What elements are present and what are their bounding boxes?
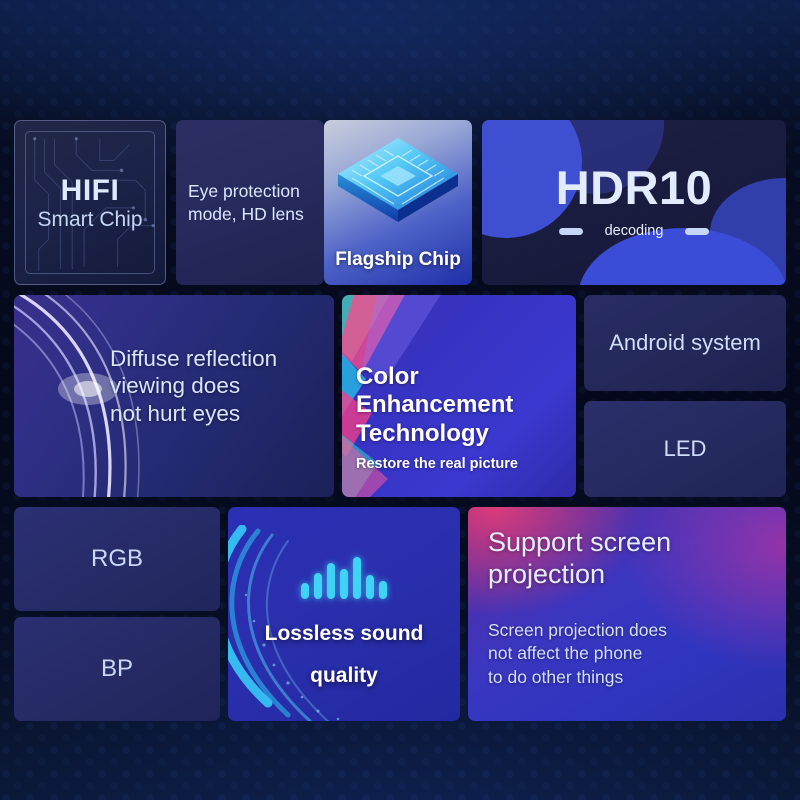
rgb-label: RGB — [91, 545, 143, 573]
hifi-title: HIFI — [37, 174, 142, 208]
projection-body-line3: to do other things — [488, 666, 776, 689]
hifi-subtitle: Smart Chip — [37, 208, 142, 232]
panel-rgb[interactable]: RGB — [14, 507, 220, 611]
panel-screen-projection[interactable]: Support screen projection Screen project… — [468, 507, 786, 721]
panel-hifi-smart-chip[interactable]: HIFI Smart Chip — [14, 120, 166, 285]
diffuse-line2: viewing does — [110, 372, 326, 399]
panel-eye-protection[interactable]: Eye protection mode, HD lens — [176, 120, 324, 285]
waveform-bar — [301, 583, 309, 599]
panel-lossless-sound[interactable]: Lossless sound quality — [228, 507, 460, 721]
eye-protection-line1: Eye protection — [188, 180, 304, 203]
sound-line2: quality — [228, 655, 460, 697]
eye-protection-line2: mode, HD lens — [188, 203, 304, 226]
diffuse-line1: Diffuse reflection — [110, 345, 326, 372]
panel-led[interactable]: LED — [584, 401, 786, 497]
audio-waveform-icon — [228, 553, 460, 599]
panel-bp[interactable]: BP — [14, 617, 220, 721]
cpu-chip-icon — [332, 132, 464, 232]
android-system-label: Android system — [609, 330, 761, 356]
color-line2: Enhancement — [356, 391, 570, 419]
panel-color-enhancement[interactable]: Color Enhancement Technology Restore the… — [342, 295, 576, 497]
waveform-bar — [340, 569, 348, 599]
dash-right-icon — [685, 228, 709, 235]
hdr10-subtitle: decoding — [605, 223, 664, 239]
panel-diffuse-reflection[interactable]: Diffuse reflection viewing does not hurt… — [14, 295, 334, 497]
flagship-chip-caption: Flagship Chip — [324, 249, 472, 271]
led-label: LED — [664, 436, 707, 462]
waveform-bar — [353, 557, 361, 599]
hdr10-title: HDR10 — [482, 160, 786, 215]
projection-title-line2: projection — [488, 559, 776, 591]
panel-android-system[interactable]: Android system — [584, 295, 786, 391]
waveform-bar — [366, 575, 374, 599]
waveform-bar — [327, 563, 335, 599]
feature-grid-infographic: HIFI Smart Chip Eye protection mode, HD … — [0, 0, 800, 800]
color-line3: Technology — [356, 420, 570, 448]
color-subtitle: Restore the real picture — [356, 456, 570, 472]
projection-body-line2: not affect the phone — [488, 642, 776, 665]
waveform-bar — [379, 581, 387, 599]
dash-left-icon — [559, 228, 583, 235]
bp-label: BP — [101, 655, 133, 683]
panel-flagship-chip[interactable]: Flagship Chip — [324, 120, 472, 285]
projection-title-line1: Support screen — [488, 527, 776, 559]
color-line1: Color — [356, 363, 570, 391]
sound-line1: Lossless sound — [228, 613, 460, 655]
waveform-bar — [314, 573, 322, 599]
diffuse-line3: not hurt eyes — [110, 400, 326, 427]
projection-body-line1: Screen projection does — [488, 619, 776, 642]
panel-hdr10[interactable]: HDR10 decoding — [482, 120, 786, 285]
